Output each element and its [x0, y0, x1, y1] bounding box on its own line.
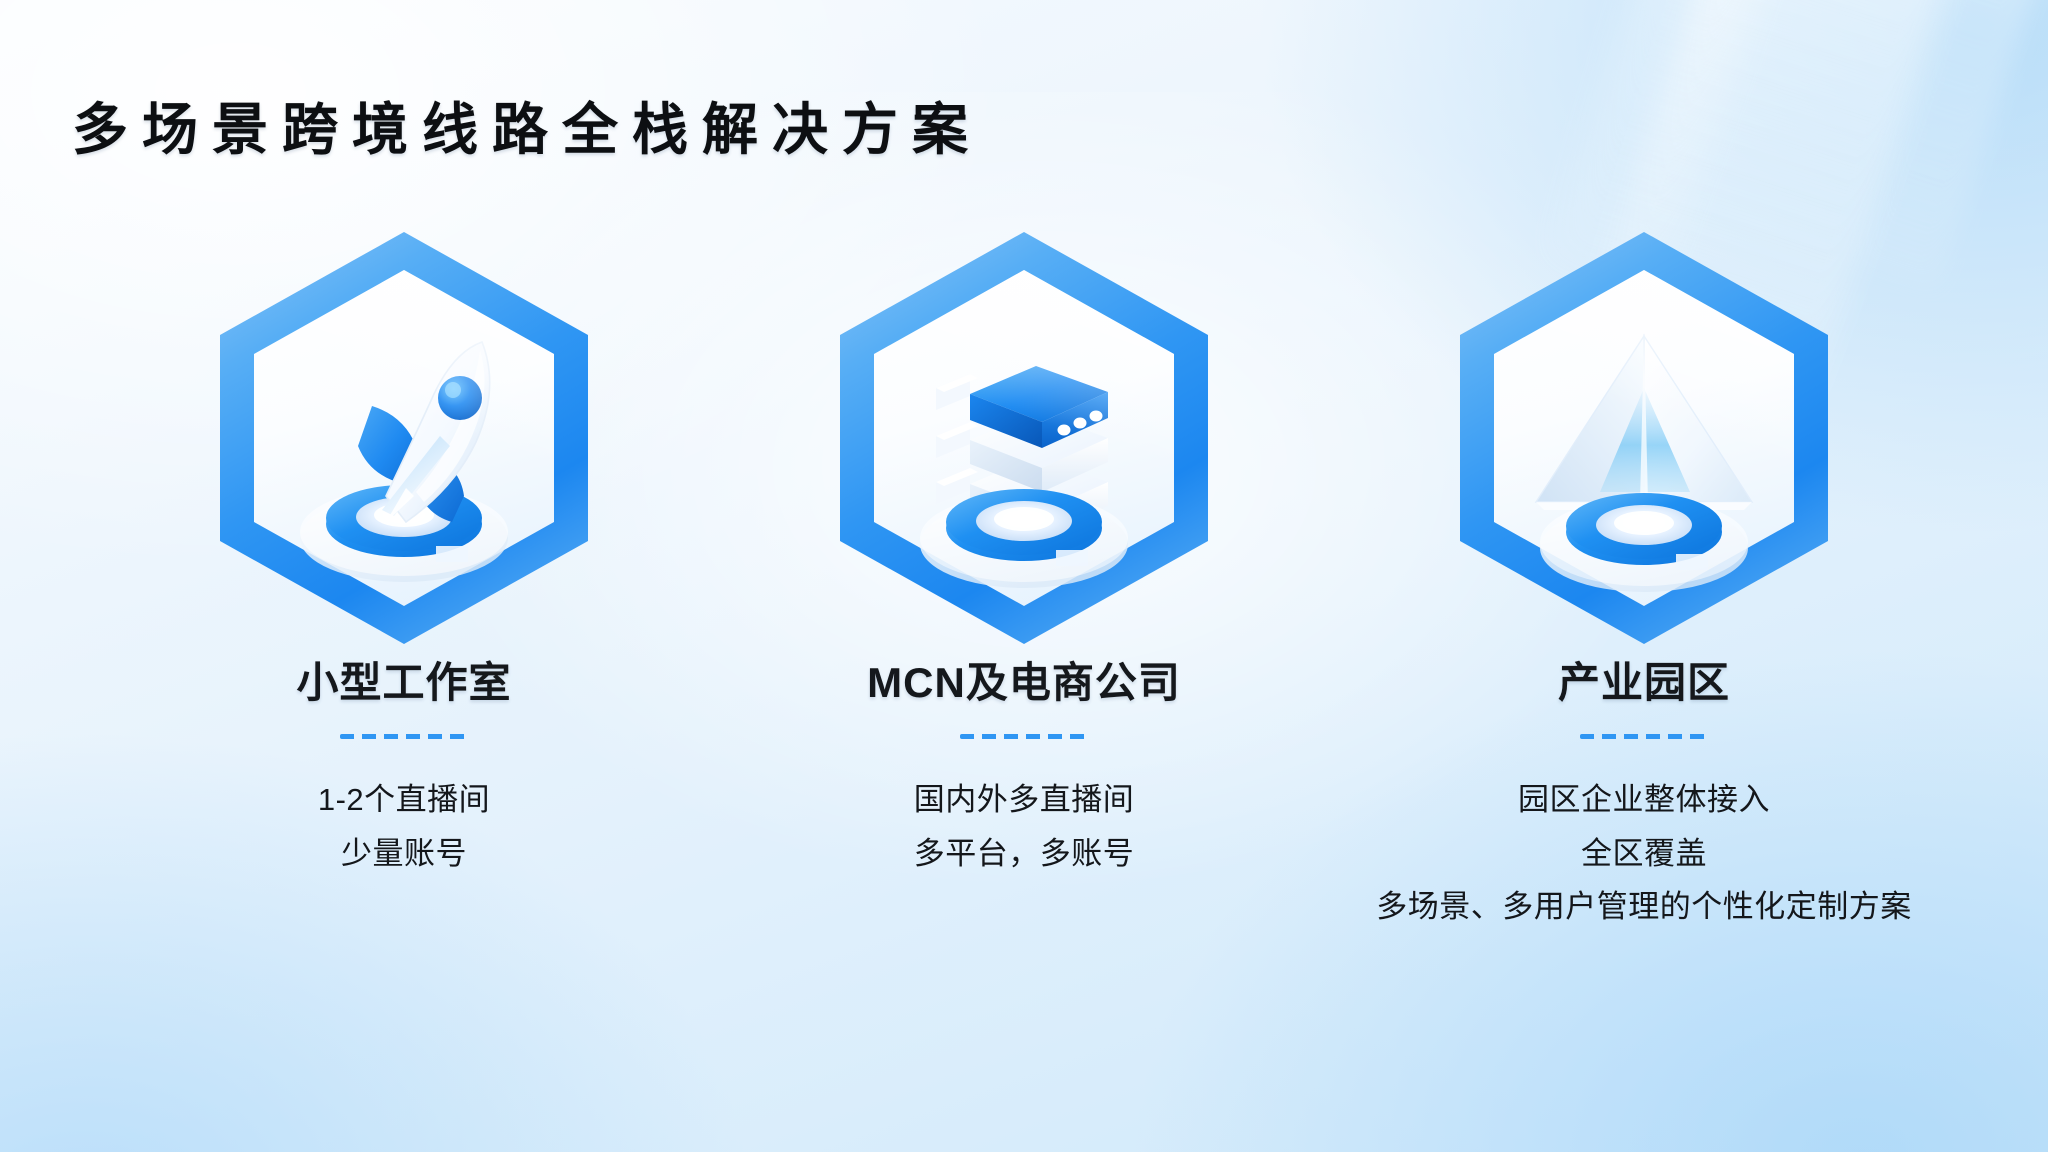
card-body-line: 全区覆盖	[1376, 827, 1912, 880]
solution-cards-row: 小型工作室 1-2个直播间 少量账号	[0, 228, 2048, 933]
hexagon-badge	[214, 228, 594, 648]
card-divider	[340, 734, 468, 739]
rocket-3d-icon	[254, 270, 554, 606]
glass-pyramid-3d-icon	[1494, 270, 1794, 606]
card-body-line: 园区企业整体接入	[1376, 773, 1912, 826]
card-title: 产业园区	[1558, 658, 1730, 708]
hexagon-badge	[834, 228, 1214, 648]
card-body: 国内外多直播间 多平台，多账号	[914, 773, 1135, 880]
card-body-line: 国内外多直播间	[914, 773, 1135, 826]
card-body-line: 1-2个直播间	[318, 773, 490, 826]
card-body: 园区企业整体接入 全区覆盖 多场景、多用户管理的个性化定制方案	[1376, 773, 1912, 933]
card-body-line: 多场景、多用户管理的个性化定制方案	[1376, 880, 1912, 933]
solution-card[interactable]: 小型工作室 1-2个直播间 少量账号	[94, 228, 714, 880]
server-stack-3d-icon	[874, 270, 1174, 606]
card-divider	[960, 734, 1088, 739]
solution-card[interactable]: 产业园区 园区企业整体接入 全区覆盖 多场景、多用户管理的个性化定制方案	[1334, 228, 1954, 933]
solution-card[interactable]: MCN及电商公司 国内外多直播间 多平台，多账号	[714, 228, 1334, 880]
hexagon-badge	[1454, 228, 1834, 648]
card-divider	[1580, 734, 1708, 739]
card-title: 小型工作室	[296, 658, 511, 708]
card-body-line: 少量账号	[318, 827, 490, 880]
card-body-line: 多平台，多账号	[914, 827, 1135, 880]
card-title: MCN及电商公司	[867, 658, 1181, 708]
card-body: 1-2个直播间 少量账号	[318, 773, 490, 880]
page-title: 多场景跨境线路全栈解决方案	[72, 98, 982, 162]
